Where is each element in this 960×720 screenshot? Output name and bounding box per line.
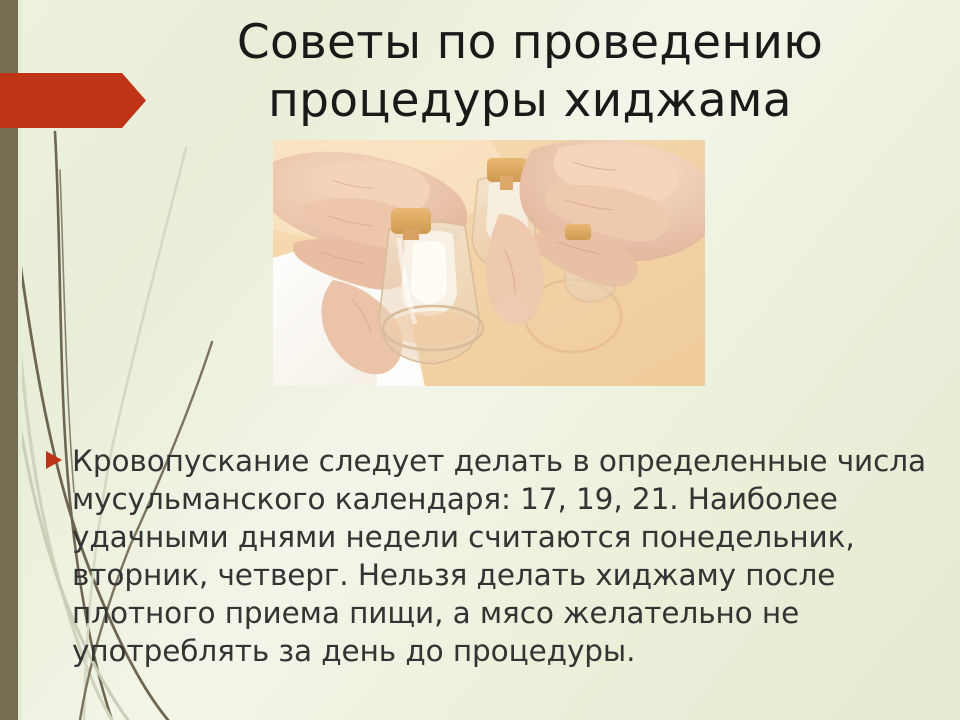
hijama-photo [273, 140, 705, 386]
presentation-slide: Советы по проведению процедуры хиджама [0, 0, 960, 720]
body-bullet-item: Кровопускание следует делать в определен… [46, 443, 926, 670]
red-arrow-banner [0, 73, 146, 128]
triangle-bullet-icon [46, 451, 62, 469]
page-title: Советы по проведению процедуры хиджама [200, 14, 860, 130]
page-title-line-1: Советы по проведению [200, 14, 860, 72]
page-title-line-2: процедуры хиджама [200, 72, 860, 130]
body-bullet-text: Кровопускание следует делать в определен… [72, 443, 926, 670]
hijama-photo-image [273, 140, 705, 386]
